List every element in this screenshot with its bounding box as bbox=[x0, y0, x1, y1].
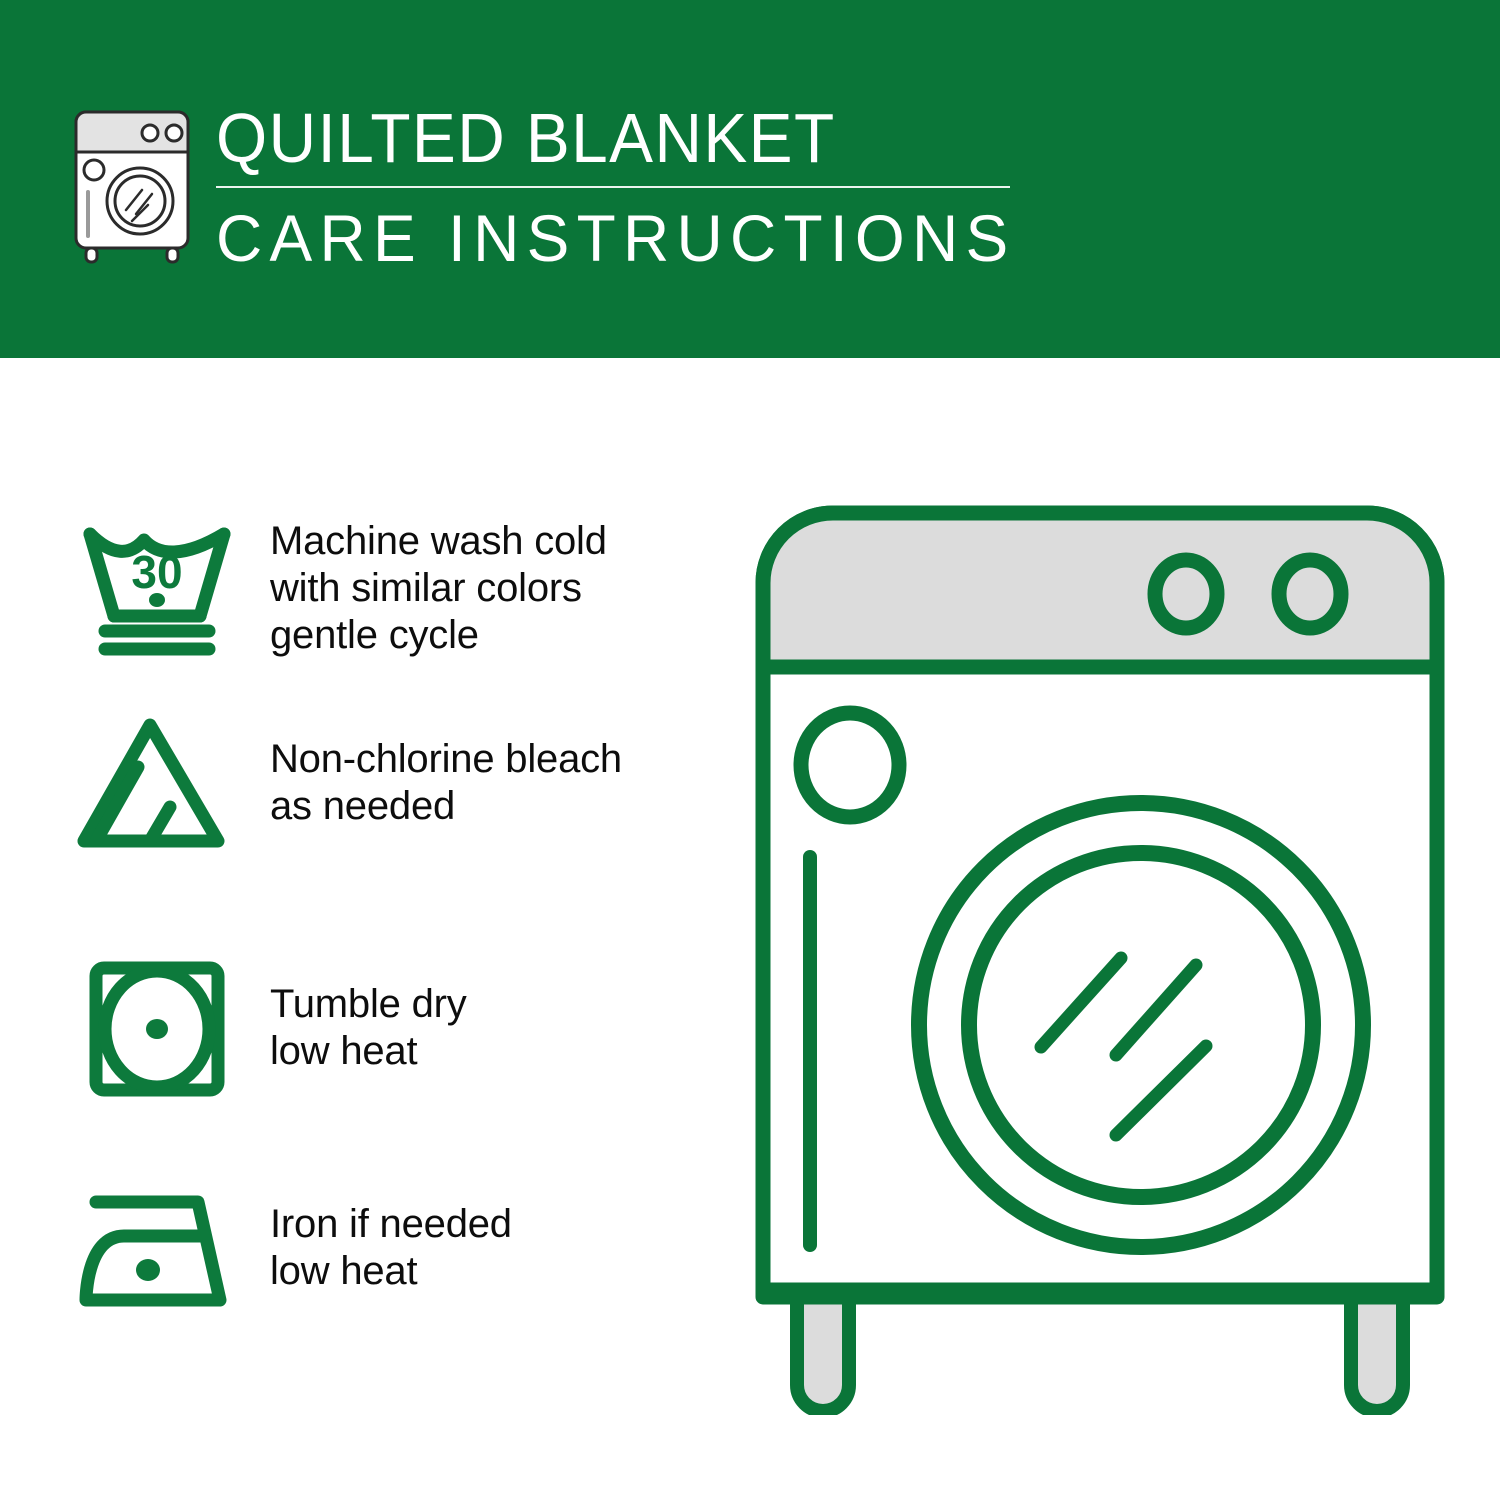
care-row-dry: Tumble dry low heat bbox=[0, 948, 730, 1108]
header-banner: QUILTED BLANKET CARE INSTRUCTIONS bbox=[0, 0, 1500, 358]
wash-temp-label: 30 bbox=[131, 546, 182, 598]
page-title: QUILTED BLANKET bbox=[216, 98, 996, 178]
care-instruction-list: 30 Machine wash cold with similar colors… bbox=[0, 358, 730, 1500]
title-divider bbox=[216, 186, 1010, 188]
washing-machine-illustration bbox=[745, 495, 1455, 1415]
care-label-wash: Machine wash cold with similar colors ge… bbox=[270, 518, 607, 659]
machine-knob-2 bbox=[1279, 560, 1341, 628]
header-text-block: QUILTED BLANKET CARE INSTRUCTIONS bbox=[216, 98, 1046, 276]
machine-knob-1 bbox=[1155, 560, 1217, 628]
washing-machine-icon bbox=[62, 104, 202, 264]
care-label-bleach: Non-chlorine bleach as needed bbox=[270, 736, 622, 830]
tumble-dry-icon bbox=[72, 956, 242, 1101]
care-label-dry: Tumble dry low heat bbox=[270, 981, 467, 1075]
iron-icon bbox=[72, 1176, 242, 1321]
bleach-triangle-icon bbox=[72, 711, 242, 856]
page-subtitle: CARE INSTRUCTIONS bbox=[216, 200, 1021, 276]
care-row-iron: Iron if needed low heat bbox=[0, 1168, 730, 1328]
care-row-bleach: Non-chlorine bleach as needed bbox=[0, 703, 730, 863]
care-label-iron: Iron if needed low heat bbox=[270, 1201, 512, 1295]
care-row-wash: 30 Machine wash cold with similar colors… bbox=[0, 508, 730, 668]
care-instructions-page: QUILTED BLANKET CARE INSTRUCTIONS 3 bbox=[0, 0, 1500, 1500]
machine-indicator-light bbox=[801, 713, 899, 817]
wash-tub-30-icon: 30 bbox=[72, 516, 242, 661]
